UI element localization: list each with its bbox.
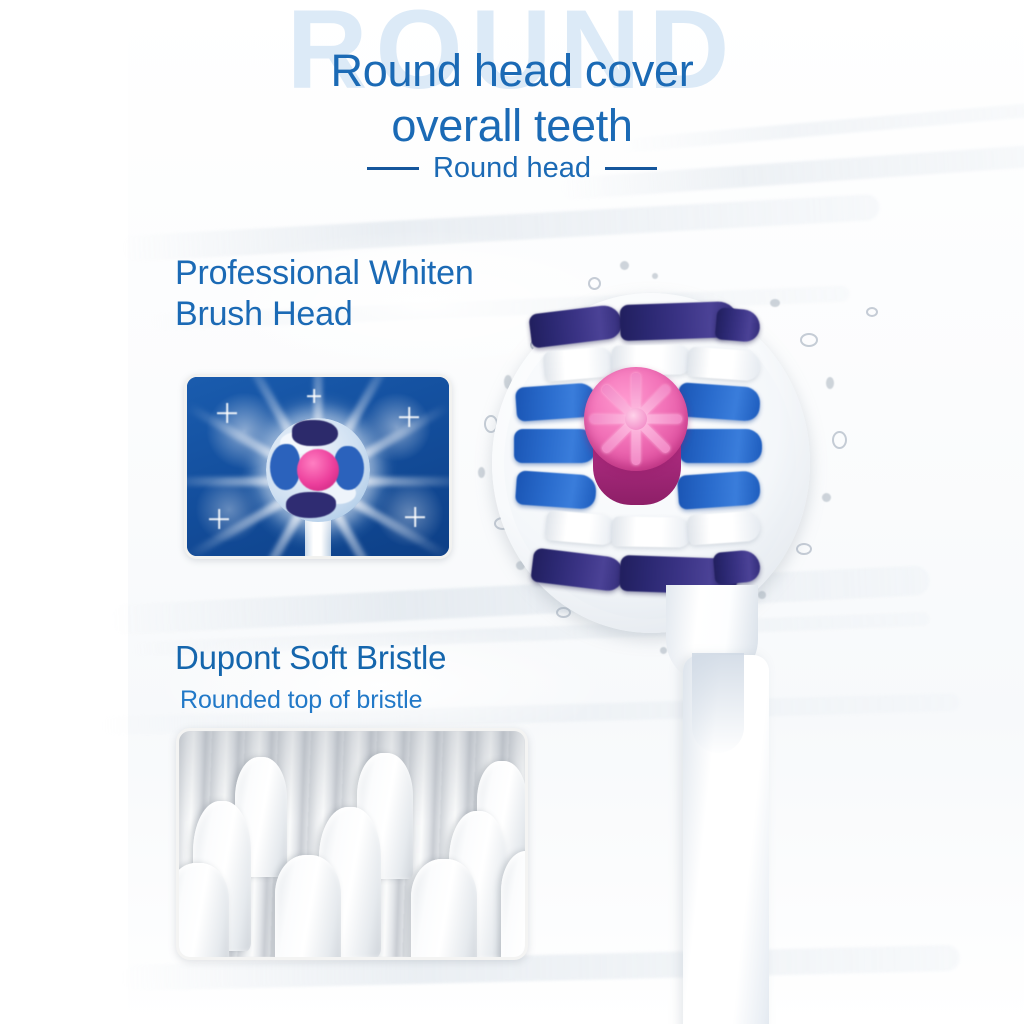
whitening-brush-head-image [184,374,452,559]
cup-hub [625,408,647,430]
bristle-tuft-navy [713,549,762,585]
bristle-tuft-blue [680,429,762,463]
sparkle-icon [217,403,237,423]
polishing-cup [297,449,339,491]
bristle-tip [411,859,477,960]
splash-droplet [800,333,818,347]
polishing-cup [584,367,688,471]
rule-right-icon [605,167,657,170]
sparkle-icon [399,407,419,427]
sparkle-icon [209,509,229,529]
headline-line-2: overall teeth [0,99,1024,154]
splash-droplet [770,299,780,307]
bristle-tuft-blue [515,470,597,509]
headline-line-1: Round head cover [0,44,1024,99]
bristle-tuft-white [687,511,761,546]
feature-heading-dupont-soft-bristle: Dupont Soft Bristle [175,639,446,677]
bristle-tuft-navy [715,307,762,343]
feature-heading-line-2: Brush Head [175,294,474,335]
splash-droplet [620,261,629,270]
bristle-tip [501,851,528,960]
bristle-macro-image [176,728,528,960]
splash-droplet [832,431,847,449]
subtitle-label: Round head [433,152,591,185]
product-banner: ROUND Round head cover overall teeth Rou… [0,0,1024,1024]
sparkle-icon [405,507,425,527]
brush-handle-groove [692,653,744,753]
splash-droplet [866,307,878,317]
bristle-tuft-white [687,347,761,382]
subtitle: Round head [0,152,1024,185]
bristle-tuft-white [612,516,693,547]
feature-subheading-rounded-top: Rounded top of bristle [180,686,422,715]
splash-droplet [652,273,658,279]
mini-brush-head [266,418,370,522]
splash-droplet [588,277,601,290]
splash-droplet [826,377,834,389]
bristle-tuft-navy [286,492,336,518]
page-title: Round head cover overall teeth [0,44,1024,154]
bristle-tip [275,855,341,960]
bristle-tuft-blue [514,429,596,463]
feature-heading-professional-whiten: Professional Whiten Brush Head [175,253,474,336]
splash-droplet [796,543,812,555]
splash-droplet [478,467,485,478]
feature-heading-line-1: Professional Whiten [175,253,474,294]
bristle-tuft-blue [677,470,761,510]
bristle-tuft-blue [677,382,761,422]
bristle-tuft-navy [292,420,338,446]
splash-droplet [758,591,766,599]
bristle-tip [176,863,229,960]
bristle-tuft-blue [270,444,300,490]
bristle-tuft-white [545,510,617,546]
hero-brush-head-image [470,255,890,695]
sparkle-icon [307,389,321,403]
rule-left-icon [367,167,419,170]
splash-droplet [822,493,831,502]
